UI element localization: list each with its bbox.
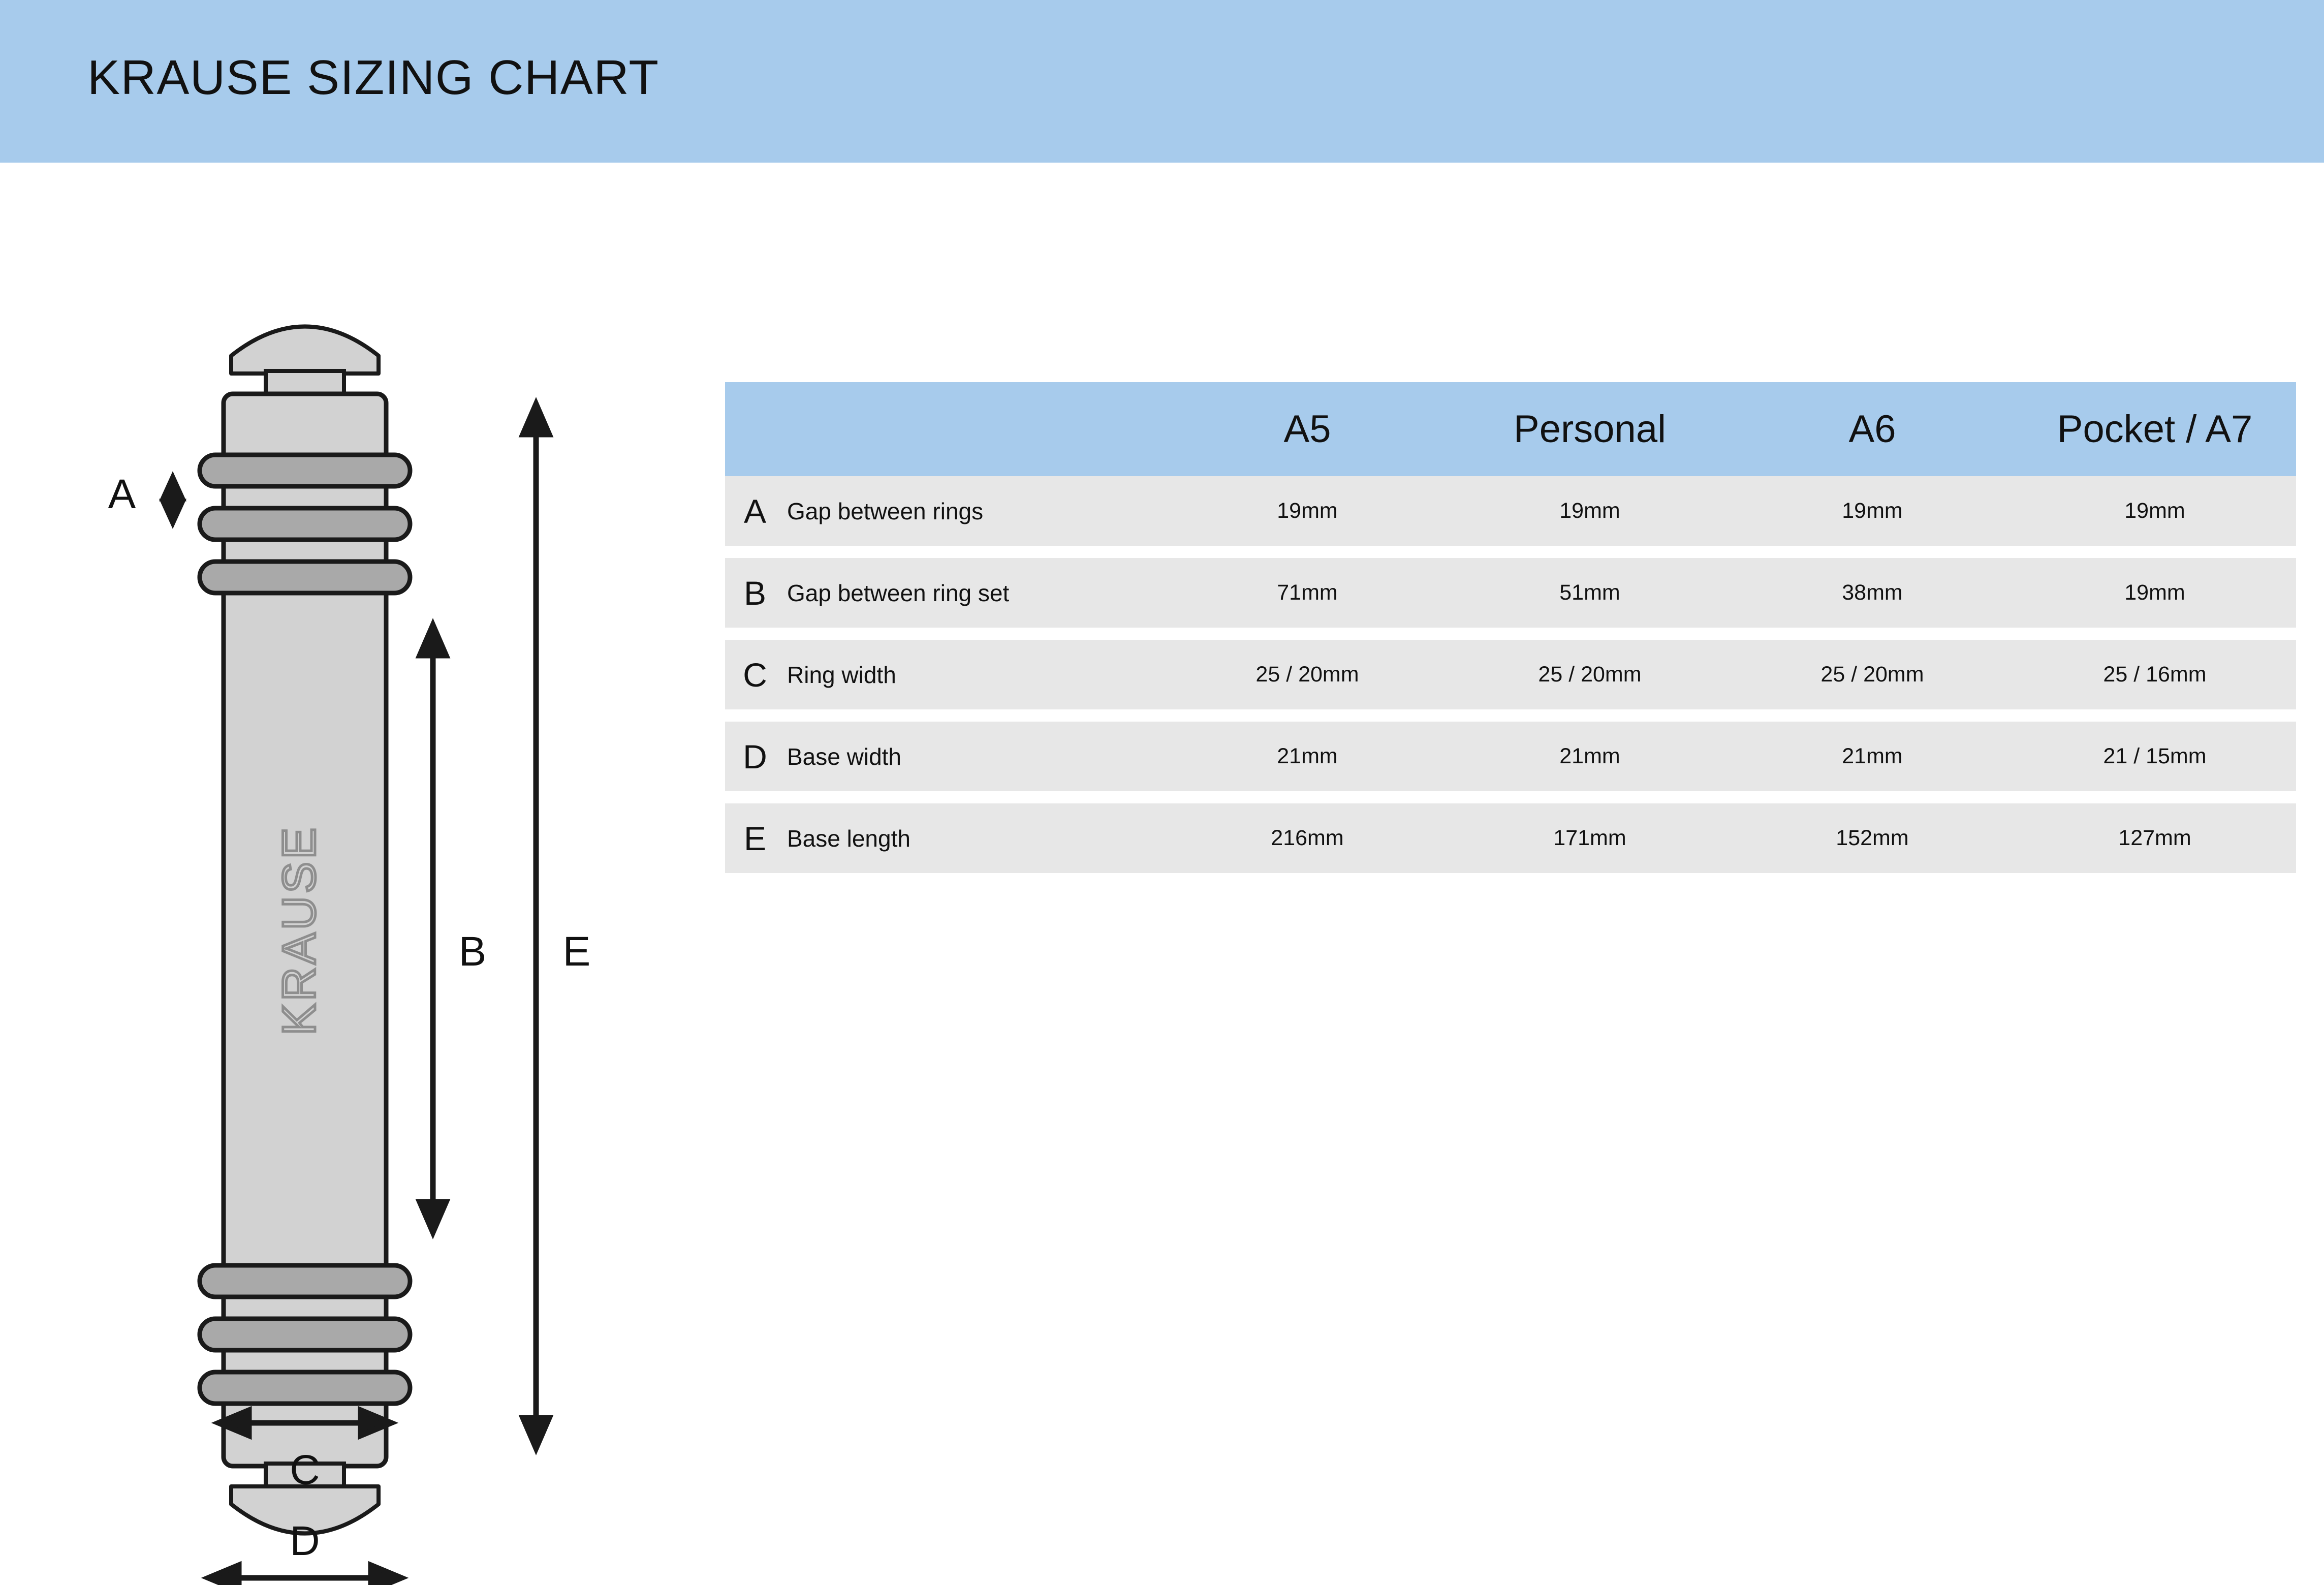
row-letter: B — [725, 576, 785, 610]
sizing-table: A5 Personal A6 Pocket / A7 A Gap between… — [725, 382, 2296, 873]
cell-a6: 19mm — [1731, 500, 2014, 522]
measure-c-label: C — [290, 1447, 320, 1493]
measure-e-label: E — [563, 928, 591, 975]
table-row: B Gap between ring set 71mm 51mm 38mm 19… — [725, 558, 2296, 628]
cell-pocket-a7: 21 / 15mm — [2014, 745, 2296, 767]
ring-band-bottom-2 — [200, 1319, 410, 1350]
row-label: Base width — [785, 745, 1166, 768]
row-letter: D — [725, 740, 785, 773]
ring-band-top-1 — [200, 455, 410, 486]
measure-a-label: A — [108, 471, 136, 517]
row-letter: A — [725, 494, 785, 528]
cell-a6: 152mm — [1731, 827, 2014, 849]
measure-e-arrow — [523, 404, 549, 1448]
ring-binder-svg: KRAUSE A B E — [0, 305, 686, 1585]
ring-band-bottom-1 — [200, 1265, 410, 1297]
row-letter: E — [725, 822, 785, 855]
page-header-bar: KRAUSE SIZING CHART — [0, 0, 2324, 163]
cell-personal: 51mm — [1449, 582, 1731, 604]
row-label: Base length — [785, 827, 1166, 850]
column-header-a5: A5 — [1166, 410, 1449, 449]
table-row: A Gap between rings 19mm 19mm 19mm 19mm — [725, 476, 2296, 546]
ring-band-top-2 — [200, 508, 410, 540]
measure-d-arrow — [208, 1565, 401, 1585]
cell-personal: 25 / 20mm — [1449, 664, 1731, 686]
ring-band-bottom-3 — [200, 1372, 410, 1404]
table-header-row: A5 Personal A6 Pocket / A7 — [725, 382, 2296, 476]
measure-a-arrow — [163, 477, 183, 523]
cell-personal: 19mm — [1449, 500, 1731, 522]
ring-band-top-3 — [200, 562, 410, 593]
table-row: E Base length 216mm 171mm 152mm 127mm — [725, 803, 2296, 873]
column-header-pocket-a7: Pocket / A7 — [2014, 410, 2296, 449]
brand-text: KRAUSE — [273, 825, 325, 1035]
cell-a5: 21mm — [1166, 745, 1449, 767]
cell-personal: 21mm — [1449, 745, 1731, 767]
cell-pocket-a7: 19mm — [2014, 582, 2296, 604]
top-dome-cap — [231, 327, 379, 374]
measure-b-label: B — [459, 928, 487, 975]
cell-personal: 171mm — [1449, 827, 1731, 849]
cell-pocket-a7: 127mm — [2014, 827, 2296, 849]
cell-a6: 25 / 20mm — [1731, 664, 2014, 686]
table-row: C Ring width 25 / 20mm 25 / 20mm 25 / 20… — [725, 640, 2296, 709]
column-header-personal: Personal — [1449, 410, 1731, 449]
cell-pocket-a7: 19mm — [2014, 500, 2296, 522]
cell-a5: 71mm — [1166, 582, 1449, 604]
cell-a6: 21mm — [1731, 745, 2014, 767]
table-row: D Base width 21mm 21mm 21mm 21 / 15mm — [725, 722, 2296, 791]
sizing-chart-page: KRAUSE SIZING CHART — [0, 0, 2324, 1585]
row-label: Gap between ring set — [785, 581, 1166, 605]
measure-d-label: D — [290, 1518, 320, 1564]
cell-a6: 38mm — [1731, 582, 2014, 604]
measure-b-arrow — [420, 625, 446, 1232]
row-label: Ring width — [785, 663, 1166, 687]
cell-a5: 216mm — [1166, 827, 1449, 849]
row-label: Gap between rings — [785, 500, 1166, 523]
cell-pocket-a7: 25 / 16mm — [2014, 664, 2296, 686]
row-letter: C — [725, 658, 785, 692]
column-header-a6: A6 — [1731, 410, 2014, 449]
cell-a5: 19mm — [1166, 500, 1449, 522]
page-title: KRAUSE SIZING CHART — [87, 50, 659, 106]
cell-a5: 25 / 20mm — [1166, 664, 1449, 686]
ring-binder-diagram: KRAUSE A B E — [0, 305, 686, 1585]
